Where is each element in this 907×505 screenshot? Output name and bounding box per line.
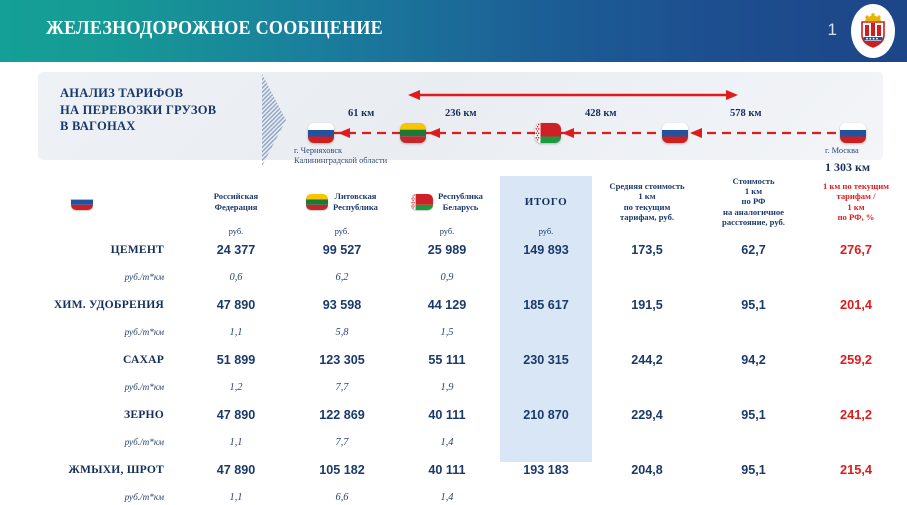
segment-distance-2: 236 км xyxy=(445,108,477,119)
cell-belarus: 55 111 xyxy=(394,346,500,373)
cell-lithuania: 122 869 xyxy=(290,401,394,428)
total-distance-label: 1 303 км xyxy=(825,160,870,175)
header-avg-line3: по текущим xyxy=(596,202,698,212)
row-label: ЗЕРНО xyxy=(0,401,182,428)
page-title: ЖЕЛЕЗНОДОРОЖНОЕ СООБЩЕНИЕ xyxy=(46,17,383,40)
destination-city-label: г. Москва xyxy=(825,146,859,156)
cell-lithuania: 93 598 xyxy=(290,291,394,318)
analysis-panel-title: АНАЛИЗ ТАРИФОВ НА ПЕРЕВОЗКИ ГРУЗОВ В ВАГ… xyxy=(60,85,216,135)
cell-percent: 276,7 xyxy=(805,236,907,263)
kaliningrad-oblast-coat-of-arms-icon xyxy=(858,13,888,49)
flag-russia-moscow-icon xyxy=(840,123,866,143)
row-unit-label: руб./т*км xyxy=(0,373,182,401)
cell-average: 173,5 xyxy=(592,236,702,263)
slide: ЖЕЛЕЗНОДОРОЖНОЕ СООБЩЕНИЕ 1 xyxy=(0,0,907,505)
cell-average-empty xyxy=(592,428,702,456)
cell-russia-per-tkm: 1,2 xyxy=(182,373,290,401)
row-label: ЖМЫХИ, ШРОТ xyxy=(0,456,182,483)
cell-russia-per-tkm: 1,1 xyxy=(182,428,290,456)
header-rfkm-line2: 1 км xyxy=(706,186,801,196)
cell-lithuania-per-tkm: 7,7 xyxy=(290,373,394,401)
cell-average-empty xyxy=(592,263,702,291)
cell-belarus-per-tkm: 0,9 xyxy=(394,263,500,291)
header-lithuania-line1: Литовская xyxy=(333,191,378,201)
cell-lithuania-per-tkm: 7,7 xyxy=(290,428,394,456)
unit-cell-belarus: руб. xyxy=(394,227,500,236)
cell-rfkm-empty xyxy=(702,483,805,505)
cell-percent-empty xyxy=(805,373,907,401)
cell-russia: 47 890 xyxy=(182,456,290,483)
cell-rf-per-km: 95,1 xyxy=(702,401,805,428)
cell-percent: 259,2 xyxy=(805,346,907,373)
slide-number: 1 xyxy=(828,20,837,40)
unit-cell-blank xyxy=(0,227,182,236)
unit-cell-percent xyxy=(805,227,907,236)
header-cell-blank xyxy=(0,176,182,227)
header-lithuania-line2: Республика xyxy=(333,202,378,212)
cell-rfkm-empty xyxy=(702,373,805,401)
cell-russia: 47 890 xyxy=(182,401,290,428)
table-row: САХАР 51 899 123 305 55 111 230 315 244,… xyxy=(0,346,907,373)
flag-russia-header-icon xyxy=(71,194,93,210)
cell-rf-per-km: 94,2 xyxy=(702,346,805,373)
cell-rf-per-km: 95,1 xyxy=(702,291,805,318)
cell-rf-per-km: 62,7 xyxy=(702,236,805,263)
cell-average-empty xyxy=(592,373,702,401)
flag-lithuania-icon xyxy=(400,123,426,143)
origin-city-line2: Калининградской области xyxy=(294,156,387,166)
cell-russia: 51 899 xyxy=(182,346,290,373)
row-label: ХИМ. УДОБРЕНИЯ xyxy=(0,291,182,318)
cell-average: 191,5 xyxy=(592,291,702,318)
cell-total: 230 315 xyxy=(500,346,592,373)
cell-lithuania-per-tkm: 5,8 xyxy=(290,318,394,346)
row-label: САХАР xyxy=(0,346,182,373)
table-body: ЦЕМЕНТ 24 377 99 527 25 989 149 893 173,… xyxy=(0,236,907,505)
unit-cell-rfkm xyxy=(702,227,805,236)
unit-cell-russia: руб. xyxy=(182,227,290,236)
header-rfkm-line3: по РФ xyxy=(706,196,801,206)
row-unit-label: руб./т*км xyxy=(0,318,182,346)
slide-header: ЖЕЛЕЗНОДОРОЖНОЕ СООБЩЕНИЕ 1 xyxy=(0,0,907,62)
table-unit-row: руб. руб. руб. руб. xyxy=(0,227,907,236)
header-cell-russia: Российская Федерация xyxy=(182,176,290,227)
unit-cell-total: руб. xyxy=(500,227,592,236)
table-row: ХИМ. УДОБРЕНИЯ 47 890 93 598 44 129 185 … xyxy=(0,291,907,318)
cell-belarus: 44 129 xyxy=(394,291,500,318)
cell-total: 193 183 xyxy=(500,456,592,483)
header-avg-line1: Средняя стоимость xyxy=(596,181,698,191)
cell-lithuania-per-tkm: 6,6 xyxy=(290,483,394,505)
cell-lithuania: 105 182 xyxy=(290,456,394,483)
header-cell-rf-per-km: Стоимость 1 км по РФ на аналогичное расс… xyxy=(702,176,805,227)
emblem-badge xyxy=(851,4,895,58)
flag-lithuania-header-icon xyxy=(306,194,328,210)
header-cell-percent: 1 км по текущим тарифам / 1 км по РФ, % xyxy=(805,176,907,227)
cell-total-empty xyxy=(500,483,592,505)
table-subrow: руб./т*км 1,1 7,7 1,4 xyxy=(0,428,907,456)
table-subrow: руб./т*км 1,1 5,8 1,5 xyxy=(0,318,907,346)
panel-title-line1: АНАЛИЗ ТАРИФОВ xyxy=(60,85,216,102)
header-avg-line2: 1 км xyxy=(596,191,698,201)
cell-russia-per-tkm: 0,6 xyxy=(182,263,290,291)
cell-total-empty xyxy=(500,373,592,401)
header-pct-line1: 1 км по текущим xyxy=(809,181,903,191)
header-russia-line1: Российская xyxy=(186,191,286,201)
cell-percent-empty xyxy=(805,318,907,346)
header-belarus-line1: Республика xyxy=(438,191,483,201)
cell-belarus-per-tkm: 1,4 xyxy=(394,428,500,456)
header-cell-average-cost: Средняя стоимость 1 км по текущим тарифа… xyxy=(592,176,702,227)
table-row: ЗЕРНО 47 890 122 869 40 111 210 870 229,… xyxy=(0,401,907,428)
cell-lithuania-per-tkm: 6,2 xyxy=(290,263,394,291)
cell-percent-empty xyxy=(805,483,907,505)
cell-belarus-per-tkm: 1,9 xyxy=(394,373,500,401)
row-unit-label: руб./т*км xyxy=(0,428,182,456)
route-diagram: 1 303 км 61 км 236 км 428 км 578 км г. Ч… xyxy=(300,72,900,168)
table-row: ЖМЫХИ, ШРОТ 47 890 105 182 40 111 193 18… xyxy=(0,456,907,483)
cell-total-empty xyxy=(500,263,592,291)
header-cell-total: ИТОГО xyxy=(500,176,592,227)
header-avg-line4: тарифам, руб. xyxy=(596,212,698,222)
segment-distance-1: 61 км xyxy=(348,108,374,119)
cell-total-empty xyxy=(500,428,592,456)
header-rfkm-line5: расстояние, руб. xyxy=(706,217,801,227)
header-rfkm-line1: Стоимость xyxy=(706,176,801,186)
flag-russia-border-icon xyxy=(662,123,688,143)
flag-belarus-header-icon xyxy=(411,194,433,210)
flag-belarus-icon xyxy=(535,123,561,143)
row-label: ЦЕМЕНТ xyxy=(0,236,182,263)
cell-percent-empty xyxy=(805,428,907,456)
cell-average: 229,4 xyxy=(592,401,702,428)
row-unit-label: руб./т*км xyxy=(0,483,182,505)
row-unit-label: руб./т*км xyxy=(0,263,182,291)
cell-total: 210 870 xyxy=(500,401,592,428)
table-subrow: руб./т*км 0,6 6,2 0,9 xyxy=(0,263,907,291)
cell-rf-per-km: 95,1 xyxy=(702,456,805,483)
unit-cell-average xyxy=(592,227,702,236)
header-cell-lithuania: Литовская Республика xyxy=(290,176,394,227)
cell-total: 185 617 xyxy=(500,291,592,318)
cell-average-empty xyxy=(592,483,702,505)
header-cell-belarus: Республика Беларусь xyxy=(394,176,500,227)
cell-belarus: 40 111 xyxy=(394,401,500,428)
cell-russia-per-tkm: 1,1 xyxy=(182,318,290,346)
cell-percent: 215,4 xyxy=(805,456,907,483)
cell-belarus-per-tkm: 1,4 xyxy=(394,483,500,505)
cell-lithuania: 99 527 xyxy=(290,236,394,263)
cell-percent-empty xyxy=(805,263,907,291)
table-subrow: руб./т*км 1,1 6,6 1,4 xyxy=(0,483,907,505)
header-rfkm-line4: на аналогичное xyxy=(706,207,801,217)
cell-percent: 241,2 xyxy=(805,401,907,428)
cell-average: 244,2 xyxy=(592,346,702,373)
segment-distance-3: 428 км xyxy=(585,108,617,119)
header-total-label: ИТОГО xyxy=(500,196,592,208)
flag-russia-chernyakhovsk-icon xyxy=(308,123,334,143)
header-pct-line2: тарифам / xyxy=(809,191,903,201)
table-row: ЦЕМЕНТ 24 377 99 527 25 989 149 893 173,… xyxy=(0,236,907,263)
origin-city-line1: г. Черняховск xyxy=(294,146,387,156)
cell-belarus-per-tkm: 1,5 xyxy=(394,318,500,346)
cell-average: 204,8 xyxy=(592,456,702,483)
cell-percent: 201,4 xyxy=(805,291,907,318)
origin-city-label: г. Черняховск Калининградской области xyxy=(294,146,387,166)
cell-rfkm-empty xyxy=(702,318,805,346)
cell-belarus: 40 111 xyxy=(394,456,500,483)
segment-distance-4: 578 км xyxy=(730,108,762,119)
cell-russia-per-tkm: 1,1 xyxy=(182,483,290,505)
cell-average-empty xyxy=(592,318,702,346)
cell-russia: 24 377 xyxy=(182,236,290,263)
unit-cell-lithuania: руб. xyxy=(290,227,394,236)
cell-rfkm-empty xyxy=(702,263,805,291)
decorative-wedge xyxy=(256,72,298,168)
table-header-row: Российская Федерация Литовская Республик… xyxy=(0,176,907,227)
cell-total-empty xyxy=(500,318,592,346)
cell-lithuania: 123 305 xyxy=(290,346,394,373)
cell-total: 149 893 xyxy=(500,236,592,263)
tariff-table: Российская Федерация Литовская Республик… xyxy=(0,176,907,505)
panel-title-line2: НА ПЕРЕВОЗКИ ГРУЗОВ xyxy=(60,102,216,119)
header-pct-line4: по РФ, % xyxy=(809,212,903,222)
header-belarus-line2: Беларусь xyxy=(438,202,483,212)
table-subrow: руб./т*км 1,2 7,7 1,9 xyxy=(0,373,907,401)
cell-russia: 47 890 xyxy=(182,291,290,318)
header-pct-line3: 1 км xyxy=(809,202,903,212)
cell-rfkm-empty xyxy=(702,428,805,456)
cell-belarus: 25 989 xyxy=(394,236,500,263)
panel-title-line3: В ВАГОНАХ xyxy=(60,118,216,135)
header-russia-line2: Федерация xyxy=(186,202,286,212)
